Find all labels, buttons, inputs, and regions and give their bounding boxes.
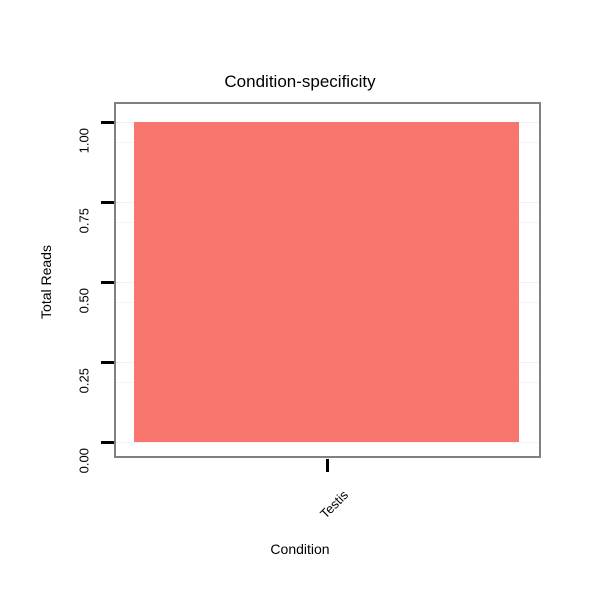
- y-axis-tick-mark: [101, 361, 114, 364]
- y-axis-title-text: Total Reads: [39, 245, 53, 319]
- x-axis-tick-mark: [326, 459, 329, 472]
- y-axis-tick-label-text: 0.00: [77, 448, 90, 473]
- y-axis-tick-label-text: 0.50: [77, 288, 90, 313]
- y-axis-tick-mark: [101, 201, 114, 204]
- gridline-minor: [116, 442, 539, 443]
- chart-title: Condition-specificity: [0, 72, 600, 92]
- chart-canvas: Condition-specificity Total Reads 1.00 0…: [0, 0, 600, 600]
- y-axis-tick-label-text: 0.25: [77, 368, 90, 393]
- x-axis-title: Condition: [0, 541, 600, 557]
- y-axis-tick-label-text: 0.75: [77, 208, 90, 233]
- y-axis-tick-mark: [101, 281, 114, 284]
- y-axis-tick-label-text: 1.00: [77, 128, 90, 153]
- x-axis-tick-label-text: Testis: [317, 488, 350, 521]
- plot-panel: [114, 102, 541, 458]
- bar-testis[interactable]: [134, 122, 519, 442]
- y-axis-tick-mark: [101, 121, 114, 124]
- plot-panel-inner: [116, 104, 539, 456]
- y-axis-tick-mark: [101, 441, 114, 444]
